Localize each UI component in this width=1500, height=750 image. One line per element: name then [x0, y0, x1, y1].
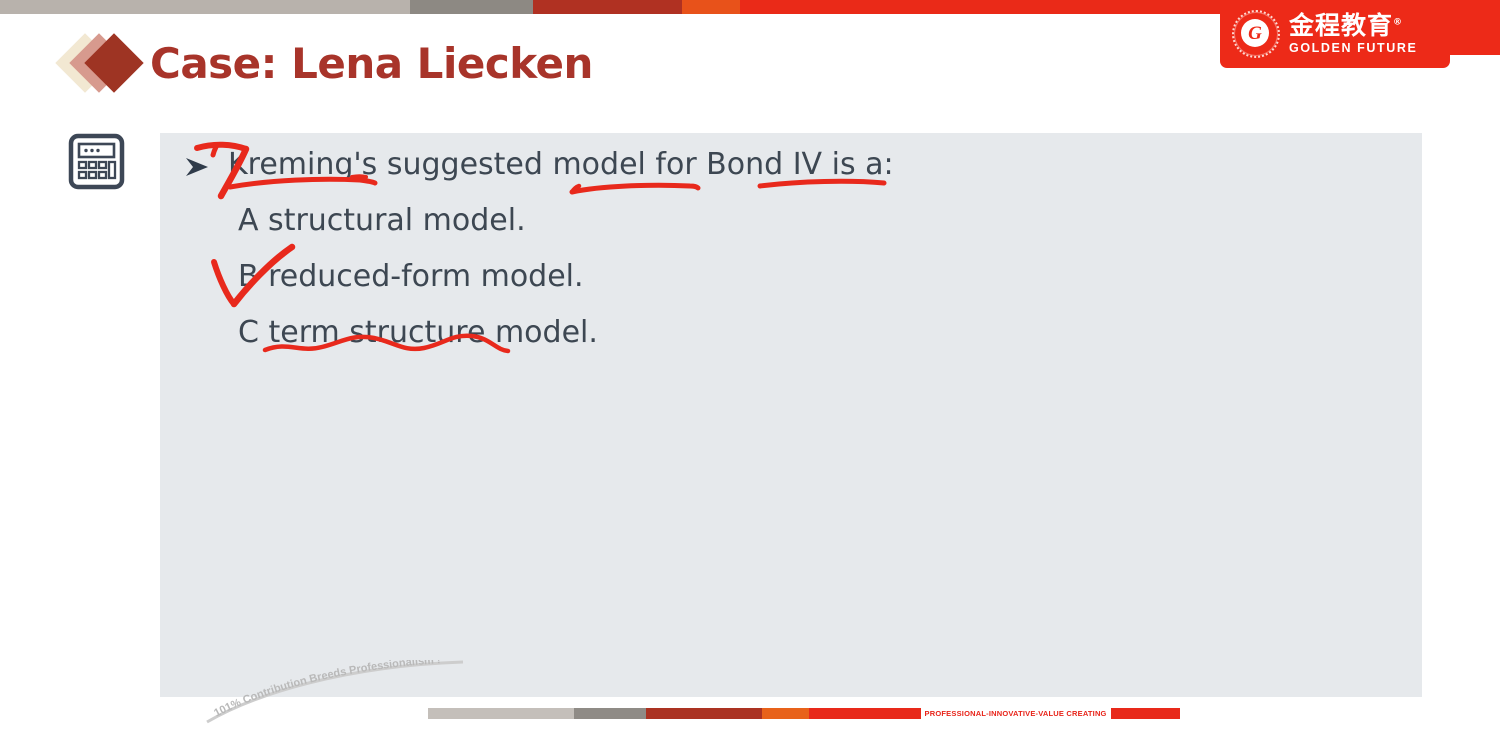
- arrow-bullet-icon: [182, 153, 214, 181]
- svg-text:101% Contribution Breeds Profe: 101% Contribution Breeds Professionalism…: [212, 660, 441, 720]
- question-panel: Kreming's suggested model for Bond IV is…: [160, 133, 1422, 697]
- registered-mark: ®: [1393, 18, 1403, 28]
- option-b[interactable]: B reduced-form model.: [238, 259, 584, 294]
- brand-seal-icon: G: [1232, 10, 1280, 58]
- top-bar-segment-beige: [0, 0, 410, 14]
- footer-color-bar: PROFESSIONAL-INNOVATIVE-VALUE CREATING: [428, 708, 1180, 719]
- brand-seal-letter: G: [1241, 19, 1269, 47]
- calculator-icon: [68, 133, 125, 190]
- footer-arc: 101% Contribution Breeds Professionalism…: [195, 660, 525, 730]
- option-c[interactable]: C term structure model.: [238, 315, 598, 350]
- option-a[interactable]: A structural model.: [238, 203, 526, 238]
- brand-badge-tail: [1450, 0, 1500, 55]
- footer-arc-text: 101% Contribution Breeds Professionalism…: [212, 660, 441, 720]
- question-text: Kreming's suggested model for Bond IV is…: [228, 147, 894, 182]
- brand-name-cn-text: 金程教育: [1289, 11, 1393, 40]
- footer-tagline: PROFESSIONAL-INNOVATIVE-VALUE CREATING: [921, 709, 1111, 718]
- page-title: Case: Lena Liecken: [150, 39, 593, 88]
- footer-bar-segment-gray: [574, 708, 646, 719]
- top-bar-segment-orange: [682, 0, 740, 14]
- slide-title-row: Case: Lena Liecken: [62, 32, 593, 94]
- footer-bar-segment-dark-red: [646, 708, 762, 719]
- brand-name-chinese: 金程教育®: [1289, 13, 1417, 38]
- brand-logo-badge: G 金程教育® GOLDEN FUTURE: [1220, 0, 1450, 68]
- top-bar-segment-dark-red: [533, 0, 682, 14]
- footer-bar-segment-orange: [762, 708, 809, 719]
- brand-name-english: GOLDEN FUTURE: [1289, 42, 1417, 55]
- footer-bar-segment-red: [809, 708, 921, 719]
- diamond-logo-icon: [62, 32, 148, 94]
- footer-bar-segment-light-gray: [428, 708, 574, 719]
- brand-text-block: 金程教育® GOLDEN FUTURE: [1289, 13, 1417, 55]
- footer-bar-segment-red-end: [1111, 708, 1180, 719]
- top-bar-segment-gray: [410, 0, 533, 14]
